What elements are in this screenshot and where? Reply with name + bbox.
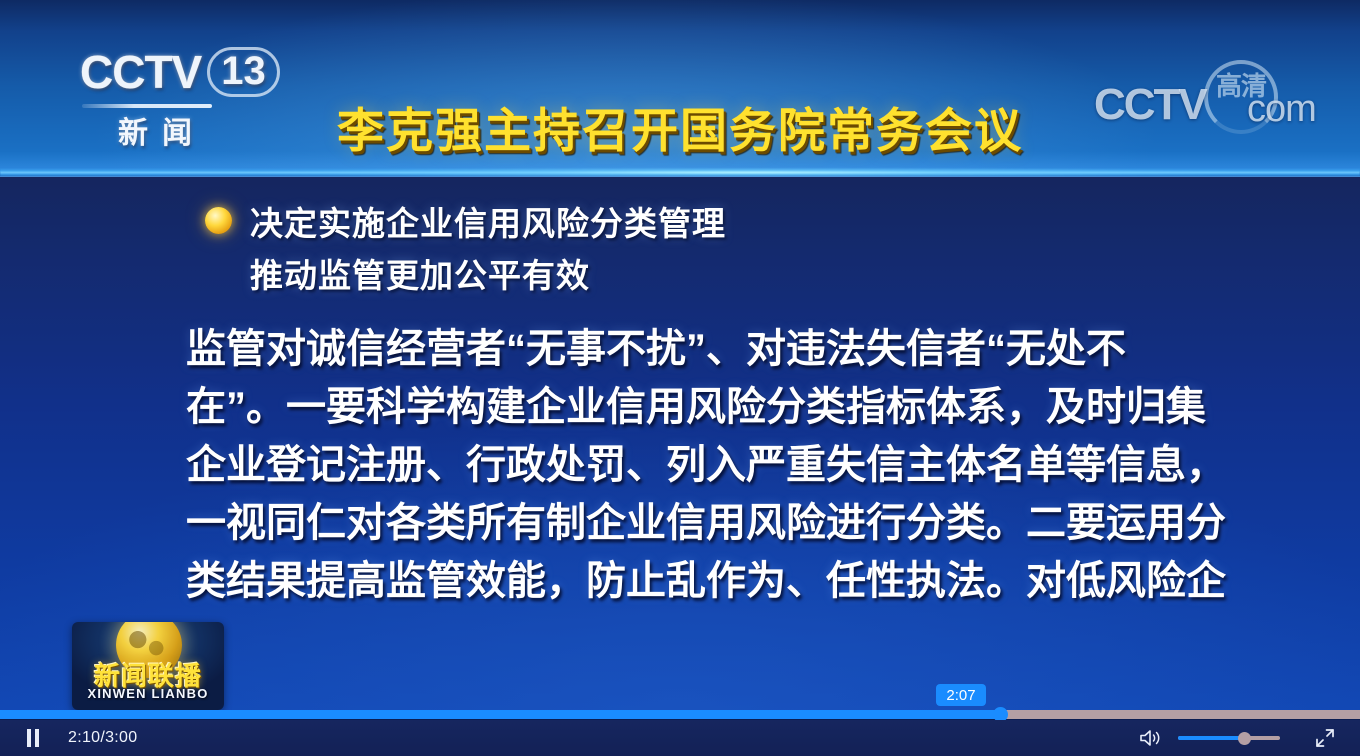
- paragraph-line: 在”。一要科学构建企业信用风险分类指标体系，及时归集: [186, 378, 1186, 436]
- volume-slider[interactable]: [1178, 729, 1280, 747]
- time-display: 2:10/3:00: [68, 729, 137, 747]
- channel-number-label: 13: [221, 49, 266, 93]
- hover-time-tooltip: 2:07: [936, 684, 986, 706]
- paragraph-line: 类结果提高监管效能，防止乱作为、任性执法。对低风险企: [186, 552, 1186, 610]
- bullet-block: 决定实施企业信用风险分类管理 推动监管更加公平有效: [205, 198, 726, 302]
- volume-handle[interactable]: [1238, 732, 1251, 745]
- program-badge: 新闻联播 XINWEN LIANBO: [72, 622, 224, 710]
- program-name-en: XINWEN LIANBO: [78, 686, 218, 701]
- bullet-dot-icon: [205, 207, 232, 234]
- broadcast-paragraph: 监管对诚信经营者“无事不扰”、对违法失信者“无处不 在”。一要科学构建企业信用风…: [186, 320, 1186, 610]
- progress-bar[interactable]: 2:07: [0, 708, 1360, 720]
- progress-fill: [0, 710, 1000, 719]
- video-player: CCTV 13 新闻 高清 CCTV com 李克强主持召开国务院常务会议 决定…: [0, 0, 1360, 756]
- video-stage[interactable]: CCTV 13 新闻 高清 CCTV com 李克强主持召开国务院常务会议 决定…: [0, 0, 1360, 714]
- bullet-line-2: 推动监管更加公平有效: [250, 250, 726, 302]
- paragraph-line: 企业登记注册、行政处罚、列入严重失信主体名单等信息，: [186, 436, 1186, 494]
- bullet-line-1: 决定实施企业信用风险分类管理: [250, 198, 726, 250]
- bullet-lines: 决定实施企业信用风险分类管理 推动监管更加公平有效: [250, 198, 726, 302]
- volume-fill: [1178, 736, 1244, 740]
- controls-left-group: 2:10/3:00: [0, 729, 137, 747]
- cctv-wordmark: CCTV: [80, 45, 201, 99]
- pause-icon[interactable]: [26, 729, 40, 747]
- controls-right-group: [1138, 727, 1360, 749]
- volume-icon[interactable]: [1138, 728, 1164, 748]
- channel-number-pill: 13: [207, 47, 280, 97]
- fullscreen-icon[interactable]: [1314, 727, 1336, 749]
- paragraph-line: 监管对诚信经营者“无事不扰”、对违法失信者“无处不: [186, 320, 1186, 378]
- paragraph-line: 一视同仁对各类所有制企业信用风险进行分类。二要运用分: [186, 494, 1186, 552]
- broadcast-headline: 李克强主持召开国务院常务会议: [0, 92, 1360, 161]
- player-control-bar: 2:10/3:00: [0, 720, 1360, 756]
